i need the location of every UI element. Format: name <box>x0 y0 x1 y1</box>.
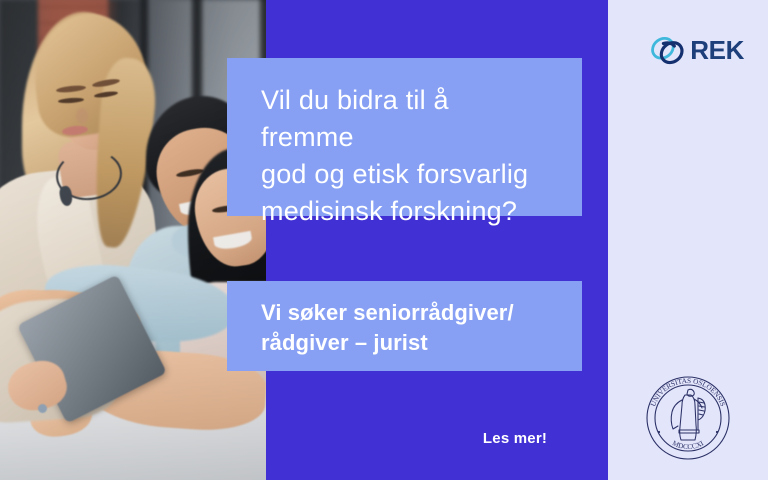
read-more-link[interactable]: Les mer! <box>448 430 582 447</box>
woman-nose <box>76 108 88 124</box>
job-title: Vi søker seniorrådgiver/ rådgiver – juri… <box>261 298 548 358</box>
job-title-box: Vi søker seniorrådgiver/ rådgiver – juri… <box>227 281 582 371</box>
rek-rings-icon <box>648 27 688 73</box>
uio-seal-icon: UNIVERSITAS OSLOENSIS MDCCCXI <box>638 368 738 468</box>
uio-seal-logo[interactable]: UNIVERSITAS OSLOENSIS MDCCCXI <box>638 368 738 468</box>
page-title: Vil du bidra til å fremme god og etisk f… <box>261 82 548 230</box>
finger-ring <box>38 404 47 413</box>
uio-outer-text: UNIVERSITAS OSLOENSIS <box>649 377 727 408</box>
svg-text:UNIVERSITAS OSLOENSIS: UNIVERSITAS OSLOENSIS <box>649 377 727 408</box>
headline-box: Vil du bidra til å fremme god og etisk f… <box>227 58 582 216</box>
rek-logo[interactable]: REK <box>648 24 744 76</box>
recruitment-banner: Vil du bidra til å fremme god og etisk f… <box>0 0 768 480</box>
rek-wordmark: REK <box>690 37 744 63</box>
